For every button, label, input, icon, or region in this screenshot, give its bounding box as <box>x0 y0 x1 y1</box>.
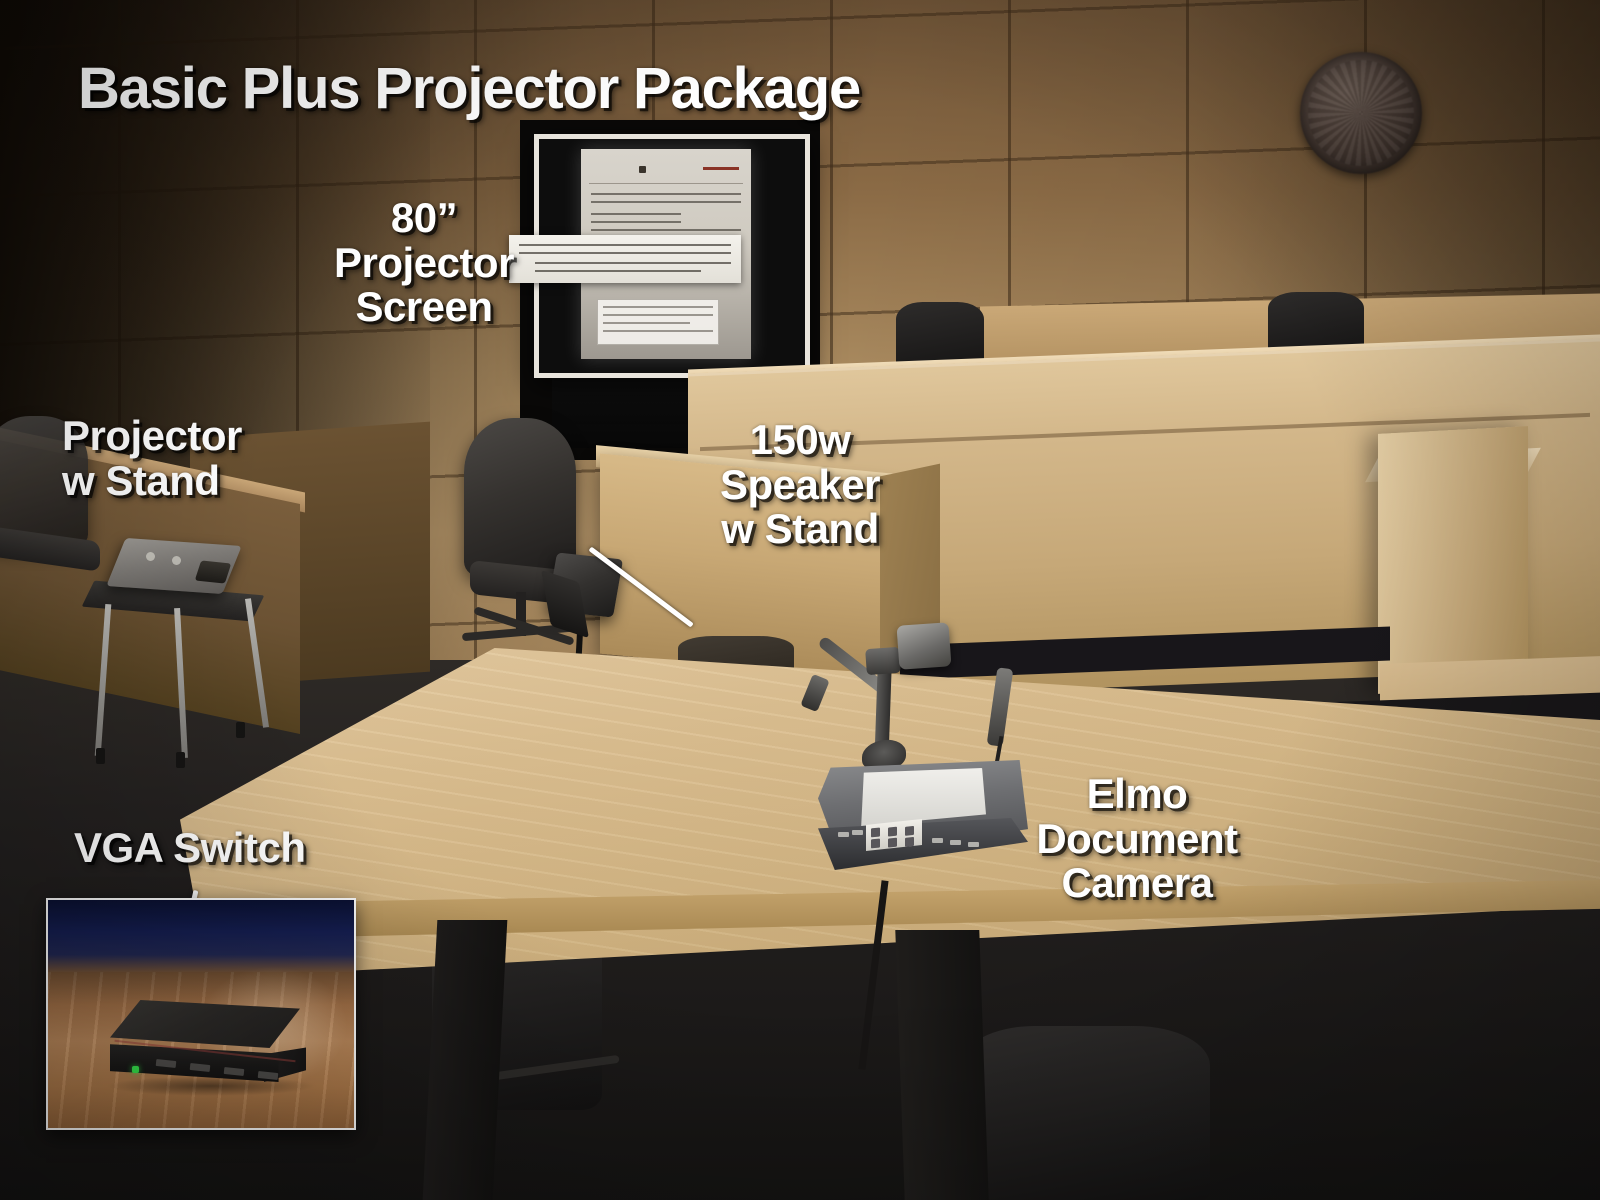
document-camera-button[interactable] <box>932 838 943 843</box>
document-highlight-band <box>509 235 741 283</box>
document-subblock <box>597 299 719 345</box>
projector-button <box>172 556 181 565</box>
document-seal-mark <box>639 166 646 173</box>
counsel-table-leg <box>895 930 988 1200</box>
projector-screen <box>534 134 810 378</box>
vga-switch-inset-photo <box>46 898 356 1130</box>
document-camera-button[interactable] <box>950 840 961 845</box>
label-document-camera: Elmo Document Camera <box>1002 772 1272 906</box>
label-speaker-stand: 150w Speaker w Stand <box>700 418 900 552</box>
counsel-table-leg <box>423 920 508 1200</box>
document-camera-button[interactable] <box>968 842 979 847</box>
projector-stand-foot <box>96 748 105 764</box>
vga-switch-shadow <box>106 1076 316 1096</box>
document-camera-head <box>897 622 952 670</box>
label-projector-screen: 80” Projector Screen <box>318 196 530 330</box>
label-projector-stand: Projector w Stand <box>62 414 362 503</box>
page-title: Basic Plus Projector Package <box>78 58 860 119</box>
document-red-mark <box>703 167 739 170</box>
document-camera-button[interactable] <box>838 832 849 837</box>
slide-scene: Basic Plus Projector Package 80” Project… <box>0 0 1600 1200</box>
projector-lens <box>195 560 231 583</box>
wall-seal-medallion <box>1300 52 1422 174</box>
projector-button <box>146 552 155 561</box>
bench-column <box>1378 426 1528 694</box>
projector-stand-foot <box>236 722 245 738</box>
chair-foreground-right <box>960 1026 1210 1200</box>
projector-stand-foot <box>176 752 185 768</box>
document-camera-hinge <box>865 647 901 675</box>
document-header <box>589 157 743 184</box>
label-vga-switch: VGA Switch <box>74 826 374 871</box>
document-camera-button[interactable] <box>852 830 863 835</box>
power-led-icon <box>132 1066 139 1073</box>
